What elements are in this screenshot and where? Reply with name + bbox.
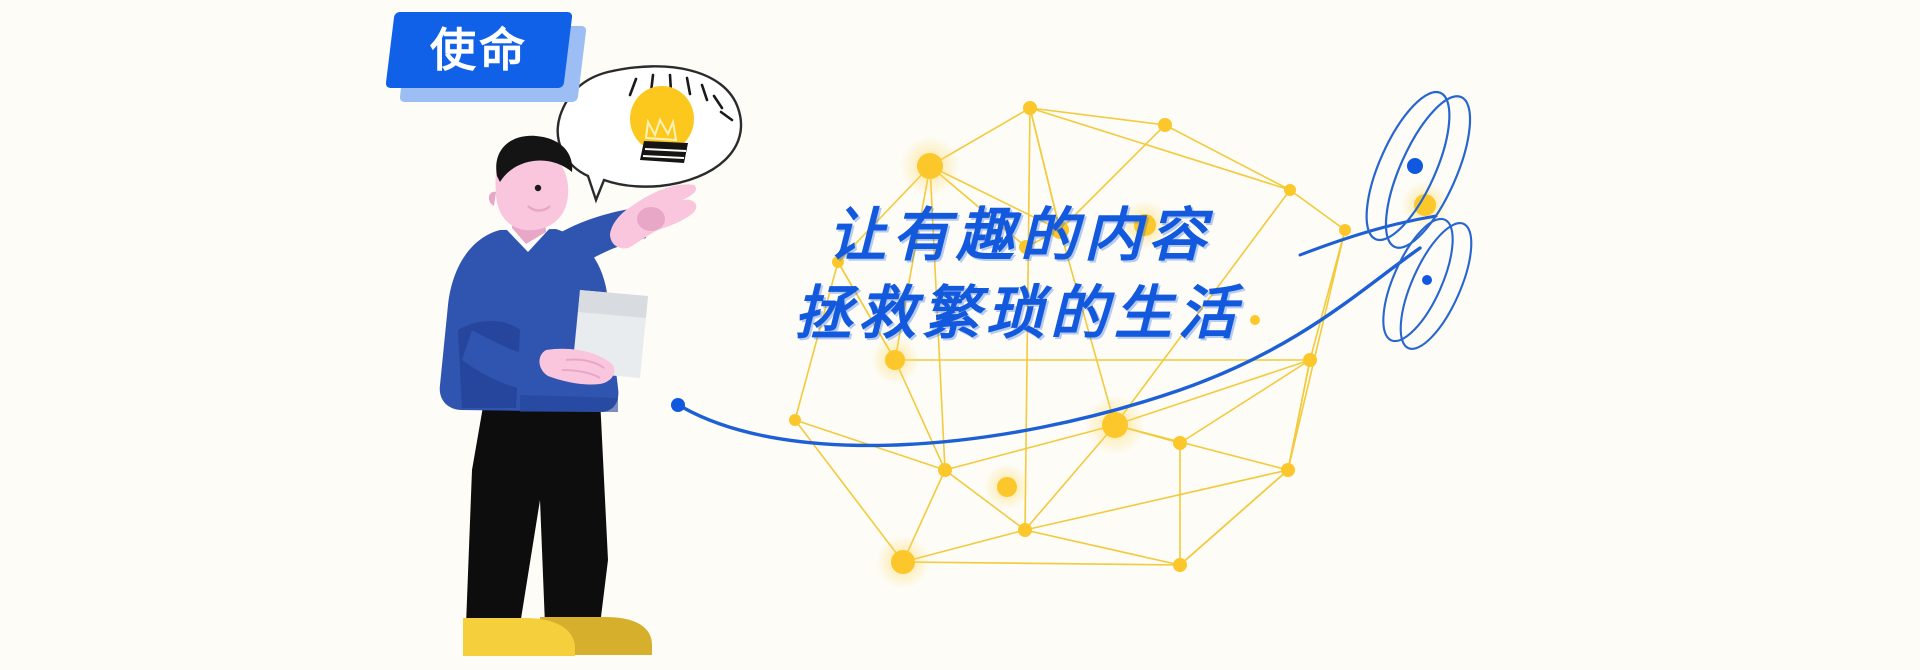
badge-layer: 使命 [0,0,1920,670]
section-badge: 使命 [390,12,568,88]
badge-label: 使命 [430,27,528,73]
mission-banner: 让有趣的内容 拯救繁琐的生活 使命 [0,0,1920,670]
badge-face: 使命 [385,12,572,88]
